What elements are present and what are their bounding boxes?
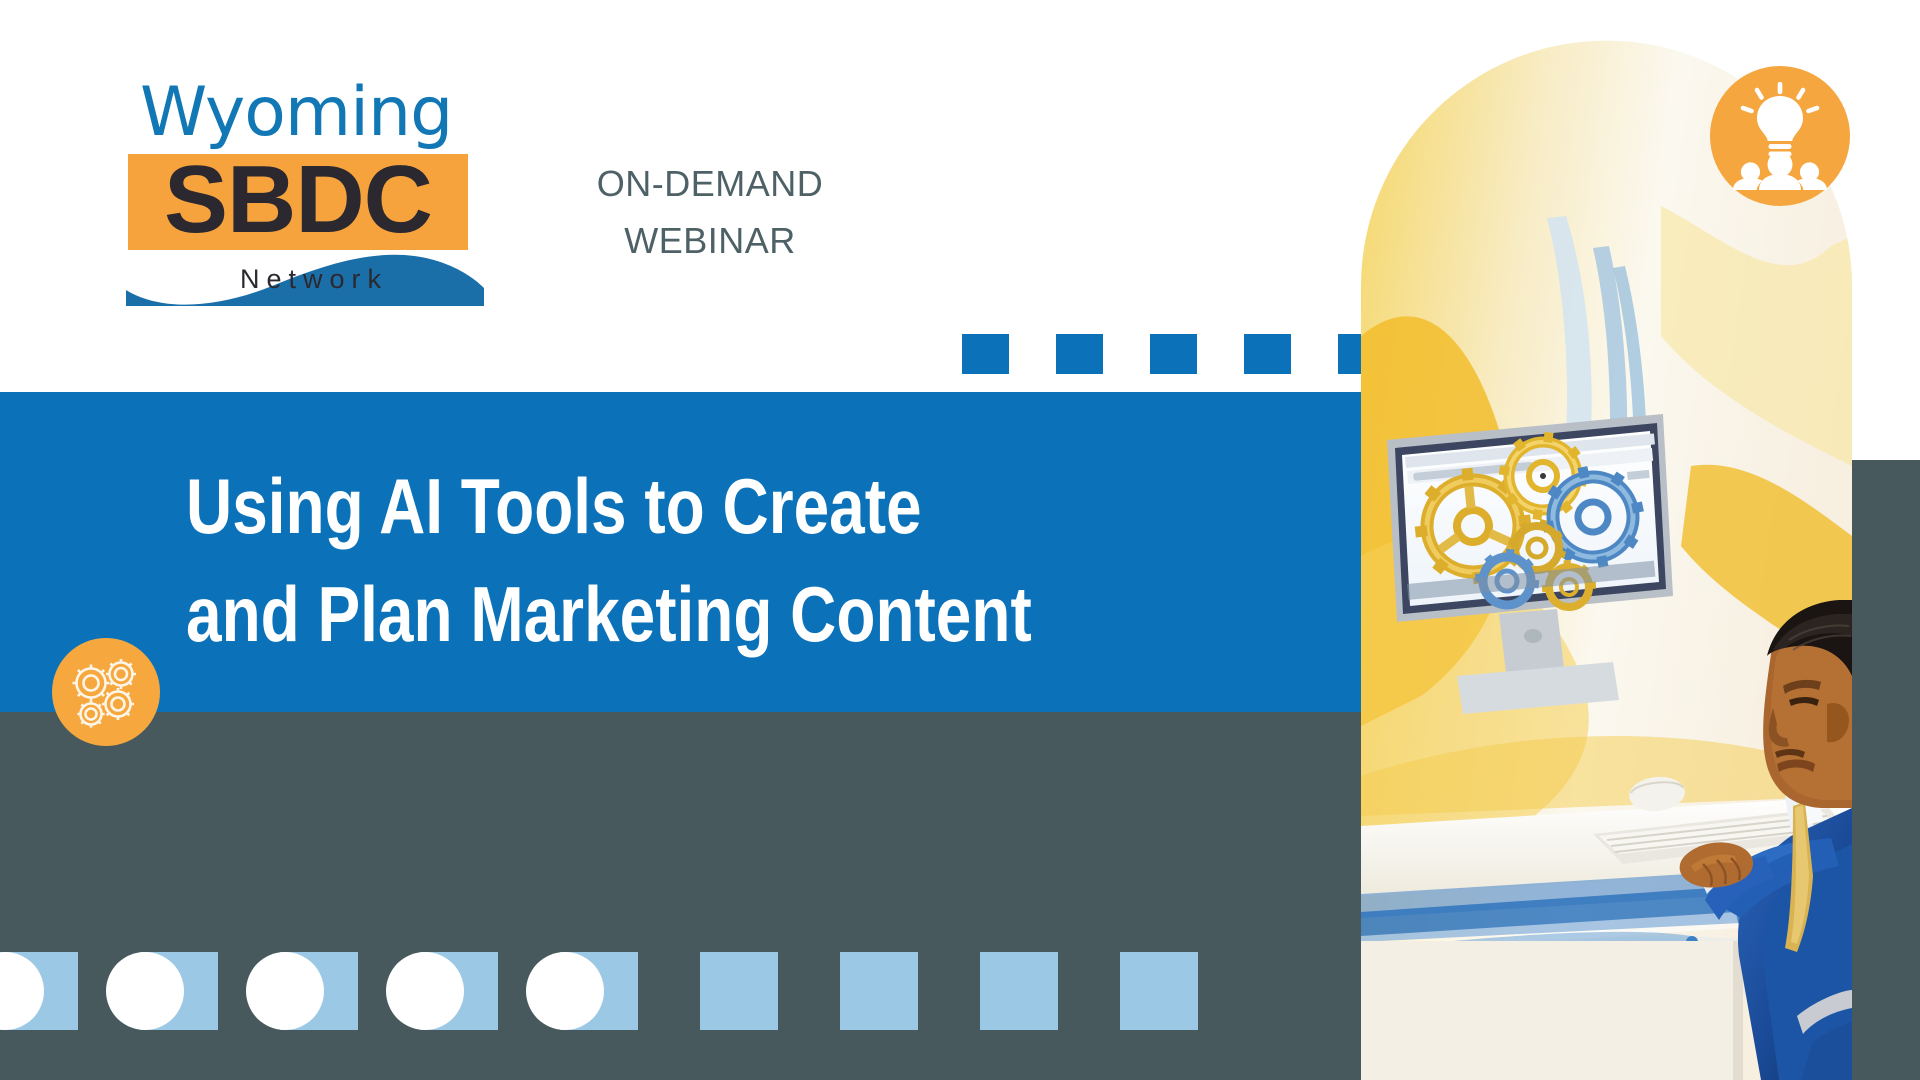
eyebrow-line-1: ON-DEMAND bbox=[520, 155, 900, 212]
decor-circle bbox=[106, 952, 184, 1030]
eyebrow-label: ON-DEMAND WEBINAR bbox=[520, 155, 900, 269]
right-slate-strip bbox=[1852, 460, 1920, 1080]
logo-wyoming-text: Wyoming bbox=[140, 78, 452, 148]
webinar-title: Using AI Tools to Create and Plan Market… bbox=[186, 452, 1104, 668]
wyoming-sbdc-network-logo: Wyoming SBDC Network bbox=[128, 78, 478, 308]
logo-sbdc-text: SBDC bbox=[128, 148, 468, 252]
banner-canvas: Wyoming SBDC Network ON-DEMAND WEBINAR U… bbox=[0, 0, 1920, 1080]
gears-icon bbox=[66, 652, 146, 732]
decor-circle bbox=[526, 952, 604, 1030]
dash-square bbox=[1150, 334, 1197, 374]
lightbulb-people-icon bbox=[1728, 82, 1832, 190]
decor-circle bbox=[246, 952, 324, 1030]
title-line-2: and Plan Marketing Content bbox=[186, 560, 1104, 668]
logo-network-text: Network bbox=[240, 264, 388, 294]
decor-square bbox=[980, 952, 1058, 1030]
gears-badge bbox=[52, 638, 160, 746]
decor-circle bbox=[386, 952, 464, 1030]
title-line-1: Using AI Tools to Create bbox=[186, 452, 1104, 560]
decor-square bbox=[1120, 952, 1198, 1030]
decor-square bbox=[840, 952, 918, 1030]
dash-square bbox=[1244, 334, 1291, 374]
dash-square bbox=[1056, 334, 1103, 374]
decor-square bbox=[700, 952, 778, 1030]
idea-team-badge bbox=[1710, 66, 1850, 206]
eyebrow-line-2: WEBINAR bbox=[520, 212, 900, 269]
dash-square bbox=[962, 334, 1009, 374]
